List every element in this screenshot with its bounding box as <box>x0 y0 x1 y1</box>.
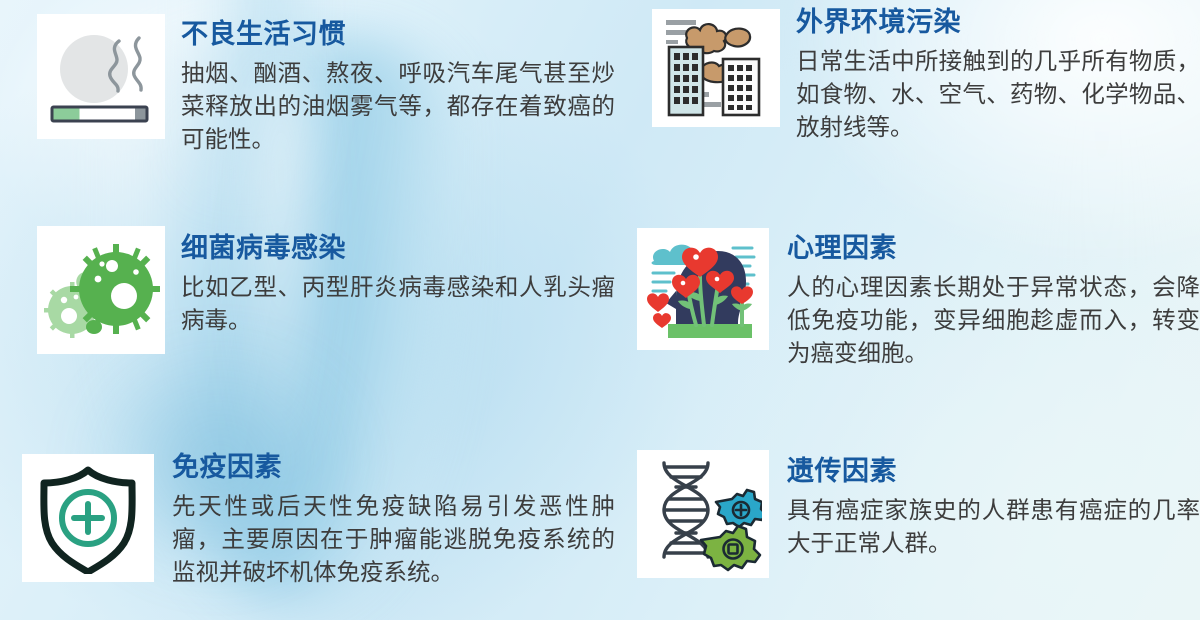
card-bacteria-virus-infection: 细菌病毒感染 比如乙型、丙型肝炎病毒感染和人乳头瘤病毒。 <box>0 218 615 444</box>
card-title: 遗传因素 <box>787 457 1200 487</box>
card-genetic-factors: 遗传因素 具有癌症家族史的人群患有癌症的几率大于正常人群。 <box>615 444 1200 620</box>
gear-blue <box>716 490 762 527</box>
card-title: 细菌病毒感染 <box>181 234 615 264</box>
text-block-bad-lifestyle: 不良生活习惯 抽烟、酗酒、熬夜、呼吸汽车尾气甚至炒菜释放出的油烟雾气等，都存在着… <box>181 20 615 157</box>
text-block-immune-factors: 免疫因素 先天性或后天性免疫缺陷易引发恶性肿瘤，主要原因在于肿瘤能逃脱免疫系统的… <box>172 453 615 590</box>
gear-green <box>701 526 760 570</box>
icon-panel-dna <box>637 450 769 578</box>
card-title: 免疫因素 <box>172 453 615 483</box>
cigarette-smoke-icon <box>42 21 160 133</box>
card-immune-factors: 免疫因素 先天性或后天性免疫缺陷易引发恶性肿瘤，主要原因在于肿瘤能逃脱免疫系统的… <box>0 444 615 620</box>
card-description: 抽烟、酗酒、熬夜、呼吸汽车尾气甚至炒菜释放出的油烟雾气等，都存在着致癌的可能性。 <box>181 57 615 157</box>
card-title: 不良生活习惯 <box>181 20 615 50</box>
text-block-environmental-pollution: 外界环境污染 日常生活中所接触到的几乎所有物质，如食物、水、空气、药物、化学物品… <box>796 8 1200 145</box>
text-block-genetic-factors: 遗传因素 具有癌症家族史的人群患有癌症的几率大于正常人群。 <box>787 457 1200 560</box>
factory-pollution-icon <box>657 14 775 122</box>
card-psychological-factors: 心理因素 人的心理因素长期处于异常状态，会降低免疫功能，变异细胞趁虚而入，转变为… <box>615 218 1200 444</box>
card-description: 比如乙型、丙型肝炎病毒感染和人乳头瘤病毒。 <box>181 271 615 338</box>
icon-panel-cigarette <box>37 14 165 139</box>
dna-gears-icon <box>644 455 762 573</box>
card-bad-lifestyle: 不良生活习惯 抽烟、酗酒、熬夜、呼吸汽车尾气甚至炒菜释放出的油烟雾气等，都存在着… <box>0 0 615 218</box>
card-description: 具有癌症家族史的人群患有癌症的几率大于正常人群。 <box>787 494 1200 561</box>
poster-canvas: 不良生活习惯 抽烟、酗酒、熬夜、呼吸汽车尾气甚至炒菜释放出的油烟雾气等，都存在着… <box>0 0 1200 620</box>
mind-head-flowers-icon <box>644 235 762 343</box>
card-title: 心理因素 <box>787 234 1200 264</box>
card-description: 先天性或后天性免疫缺陷易引发恶性肿瘤，主要原因在于肿瘤能逃脱免疫系统的监视并破坏… <box>172 490 615 590</box>
card-description: 日常生活中所接触到的几乎所有物质，如食物、水、空气、药物、化学物品、放射线等。 <box>796 45 1200 145</box>
virus-germ-icon <box>42 234 160 346</box>
icon-panel-psychology <box>637 228 769 350</box>
icon-panel-shield <box>22 454 154 582</box>
cards-grid: 不良生活习惯 抽烟、酗酒、熬夜、呼吸汽车尾气甚至炒菜释放出的油烟雾气等，都存在着… <box>0 0 1200 620</box>
card-environmental-pollution: 外界环境污染 日常生活中所接触到的几乎所有物质，如食物、水、空气、药物、化学物品… <box>615 0 1200 218</box>
text-block-bacteria-virus-infection: 细菌病毒感染 比如乙型、丙型肝炎病毒感染和人乳头瘤病毒。 <box>181 234 615 337</box>
text-block-psychological-factors: 心理因素 人的心理因素长期处于异常状态，会降低免疫功能，变异细胞趁虚而入，转变为… <box>787 234 1200 371</box>
shield-plus-icon <box>32 462 144 574</box>
card-description: 人的心理因素长期处于异常状态，会降低免疫功能，变异细胞趁虚而入，转变为癌变细胞。 <box>787 271 1200 371</box>
icon-panel-virus <box>37 226 165 354</box>
icon-panel-pollution <box>652 9 780 127</box>
card-title: 外界环境污染 <box>796 8 1200 38</box>
